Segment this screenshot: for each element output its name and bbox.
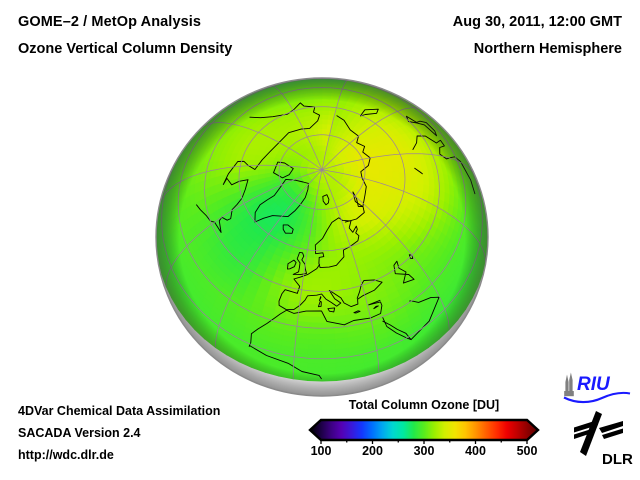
riu-logo: RIU [560,370,632,404]
header-region: Northern Hemisphere [474,41,622,57]
footer-url[interactable]: http://wdc.dlr.de [18,444,220,466]
header-datetime: Aug 30, 2011, 12:00 GMT [453,14,622,30]
colorbar-title: Total Column Ozone [DU] [300,398,548,412]
ozone-globe-map [148,70,496,404]
dlr-logo: DLR [566,408,634,468]
riu-logo-text: RIU [577,374,611,395]
globe-limb-shading [156,78,488,396]
colorbar-tick-label: 400 [465,444,486,458]
dlr-logo-text: DLR [602,451,633,468]
riu-spires-icon [564,373,574,397]
footer-method: 4DVar Chemical Data Assimilation [18,400,220,422]
colorbar-tick-labels: 100200300400500 [300,444,548,464]
colorbar-bar [310,420,538,440]
colorbar: Total Column Ozone [DU] 100200300400500 [300,398,548,472]
header-instrument-title: GOME–2 / MetOp Analysis [18,14,201,30]
colorbar-tick-label: 100 [311,444,332,458]
colorbar-tick-label: 200 [362,444,383,458]
footer-version: SACADA Version 2.4 [18,422,220,444]
colorbar-tick-label: 500 [517,444,538,458]
dlr-mark-icon [574,411,623,456]
orthographic-projection-svg [148,70,496,404]
footer-credits: 4DVar Chemical Data Assimilation SACADA … [18,400,220,466]
header-product-title: Ozone Vertical Column Density [18,41,232,57]
colorbar-gradient [300,416,548,444]
colorbar-tick-label: 300 [414,444,435,458]
